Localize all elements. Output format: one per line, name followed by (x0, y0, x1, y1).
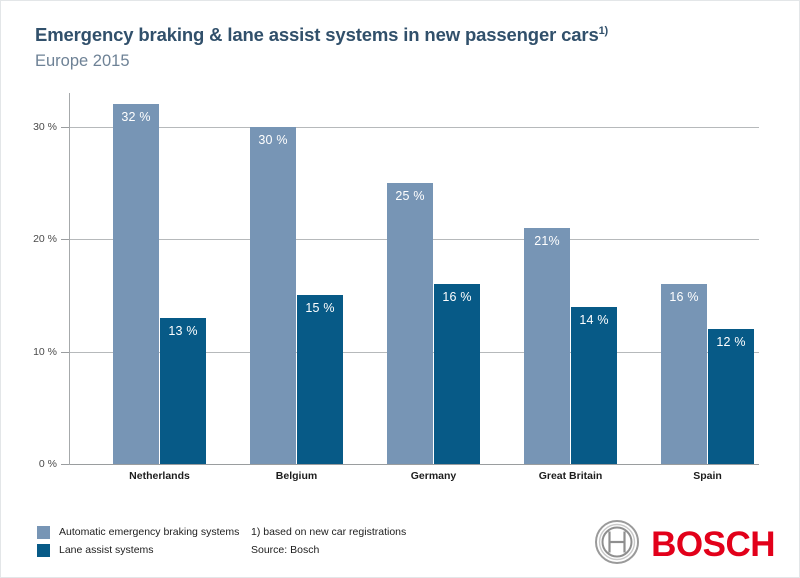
bar[interactable]: 21% (524, 228, 570, 464)
x-axis-category-label: Spain (639, 470, 776, 482)
chart-legend: Automatic emergency braking systemsLane … (37, 523, 239, 559)
bar-value-label: 14 % (571, 313, 617, 327)
bar-group: 30 %15 %Belgium (250, 93, 343, 464)
bar-groups: 32 %13 %Netherlands30 %15 %Belgium25 %16… (69, 93, 759, 464)
bar[interactable]: 16 % (661, 284, 707, 464)
y-tick-30 (61, 127, 69, 128)
chart-plot-area: 0 %10 %20 %30 % 32 %13 %Netherlands30 %1… (1, 1, 800, 578)
bosch-wordmark: BOSCH (651, 527, 775, 562)
bar-group: 21%14 %Great Britain (524, 93, 617, 464)
x-axis-category-label: Great Britain (502, 470, 639, 482)
bosch-armature-icon (594, 519, 640, 570)
y-axis-tick-label: 0 % (11, 458, 57, 470)
bar-value-label: 25 % (387, 189, 433, 203)
x-axis-category-label: Germany (365, 470, 502, 482)
bar[interactable]: 32 % (113, 104, 159, 464)
bar[interactable]: 30 % (250, 127, 296, 464)
bar-value-label: 16 % (434, 290, 480, 304)
source-text: Source: Bosch (251, 541, 406, 559)
bar[interactable]: 13 % (160, 318, 206, 464)
bar[interactable]: 12 % (708, 329, 754, 464)
chart-notes: 1) based on new car registrations Source… (251, 523, 406, 559)
y-axis-tick-label: 30 % (11, 121, 57, 133)
bar-value-label: 16 % (661, 290, 707, 304)
legend-swatch-icon (37, 526, 50, 539)
legend-swatch-icon (37, 544, 50, 557)
footer: Automatic emergency braking systemsLane … (1, 513, 800, 578)
bar-group: 25 %16 %Germany (387, 93, 480, 464)
bar-value-label: 32 % (113, 110, 159, 124)
bar[interactable]: 25 % (387, 183, 433, 464)
bar-value-label: 13 % (160, 324, 206, 338)
bar[interactable]: 14 % (571, 307, 617, 464)
bar-value-label: 30 % (250, 133, 296, 147)
bar-value-label: 21% (524, 234, 570, 248)
y-tick-20 (61, 239, 69, 240)
legend-label: Lane assist systems (59, 544, 154, 556)
y-tick-0 (61, 464, 69, 465)
bar-value-label: 12 % (708, 335, 754, 349)
legend-item[interactable]: Automatic emergency braking systems (37, 523, 239, 541)
y-axis-tick-label: 20 % (11, 233, 57, 245)
legend-item[interactable]: Lane assist systems (37, 541, 239, 559)
x-axis-category-label: Belgium (228, 470, 365, 482)
y-axis-tick-label: 10 % (11, 346, 57, 358)
footnote-text: 1) based on new car registrations (251, 523, 406, 541)
infographic-canvas: Emergency braking & lane assist systems … (0, 0, 800, 578)
gridline-0 (69, 464, 759, 465)
legend-label: Automatic emergency braking systems (59, 526, 239, 538)
bosch-logo: BOSCH (594, 519, 775, 570)
bar-group: 32 %13 %Netherlands (113, 93, 206, 464)
bar-group: 16 %12 %Spain (661, 93, 754, 464)
y-tick-10 (61, 352, 69, 353)
bar[interactable]: 15 % (297, 295, 343, 464)
bar[interactable]: 16 % (434, 284, 480, 464)
bar-value-label: 15 % (297, 301, 343, 315)
y-axis-labels: 0 %10 %20 %30 % (1, 93, 57, 465)
x-axis-category-label: Netherlands (91, 470, 228, 482)
